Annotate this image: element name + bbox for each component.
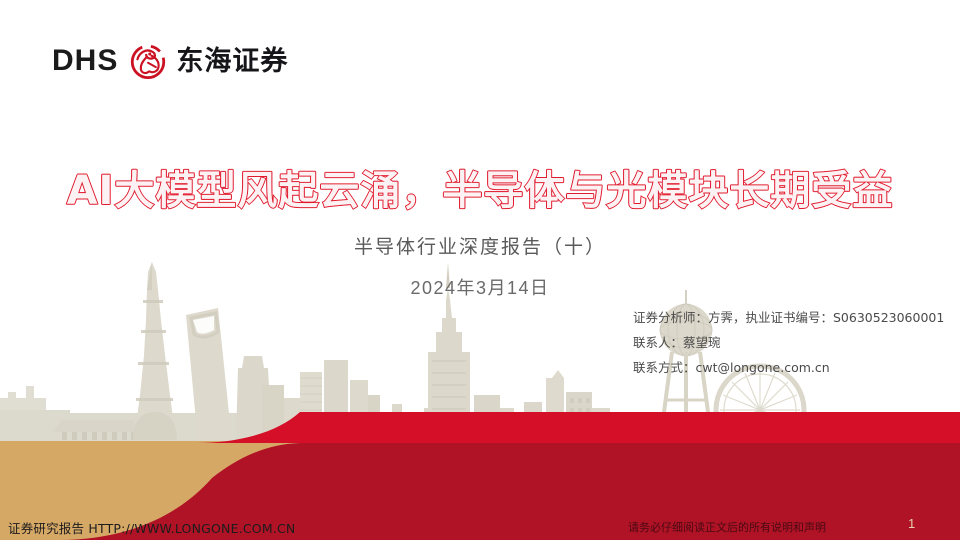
page-subtitle: 半导体行业深度报告（十）	[0, 232, 960, 259]
footer-disclaimer: 请务必仔细阅读正文后的所有说明和声明	[628, 519, 826, 535]
analyst-name-line: 证券分析师：方霁，执业证书编号：S0630523060001	[633, 305, 953, 330]
logo-text-cn: 东海证券	[176, 48, 288, 75]
dragon-emblem-icon	[127, 40, 169, 82]
footer-report-url: 证券研究报告 HTTP://WWW.LONGONE.COM.CN	[8, 518, 295, 537]
company-logo[interactable]: DHS 东海证券	[52, 36, 288, 86]
logo-text-dhs: DHS	[52, 46, 118, 76]
ground-strip	[0, 413, 960, 441]
red-band-bright	[196, 412, 960, 443]
footer-page-number: 1	[908, 516, 915, 531]
page-title: AI大模型风起云涌，半导体与光模块长期受益	[0, 166, 960, 216]
analyst-info-block: 证券分析师：方霁，执业证书编号：S0630523060001 联系人：蔡望琬 联…	[633, 305, 953, 380]
report-date: 2024年3月14日	[0, 274, 960, 300]
slide-cover: DHS 东海证券 AI大模型风起云涌，半导体与光模块长期受益 半导体行业深度报告…	[0, 0, 960, 540]
contact-email-line: 联系方式：cwt@longone.com.cn	[633, 355, 953, 380]
contact-person-line: 联系人：蔡望琬	[633, 330, 953, 355]
